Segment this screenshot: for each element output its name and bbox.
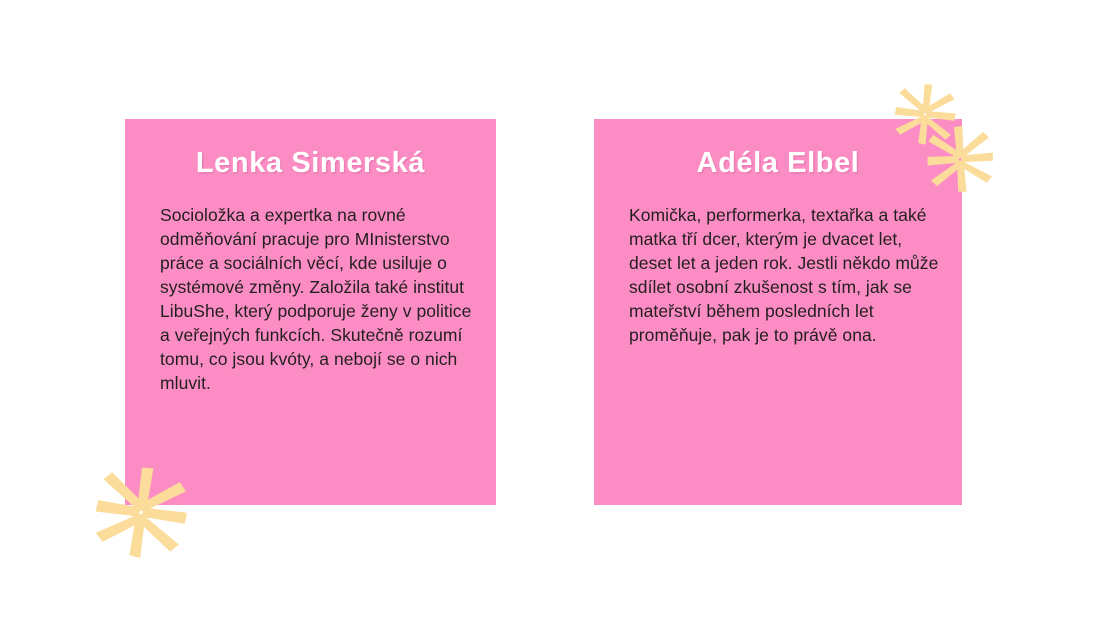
slide-canvas: Lenka Simerská Socioložka a expertka na … [0, 0, 1102, 620]
profile-bio-text: Socioložka a expertka na rovné odměňován… [160, 203, 478, 395]
profile-card-adela-elbel: Adéla Elbel Komička, performerka, textař… [594, 119, 962, 505]
profile-name-heading: Adéla Elbel [594, 145, 962, 181]
profile-name-heading: Lenka Simerská [125, 145, 496, 181]
profile-bio-text: Komička, performerka, textařka a také ma… [629, 203, 944, 347]
profile-card-lenka-simerska: Lenka Simerská Socioložka a expertka na … [125, 119, 496, 505]
